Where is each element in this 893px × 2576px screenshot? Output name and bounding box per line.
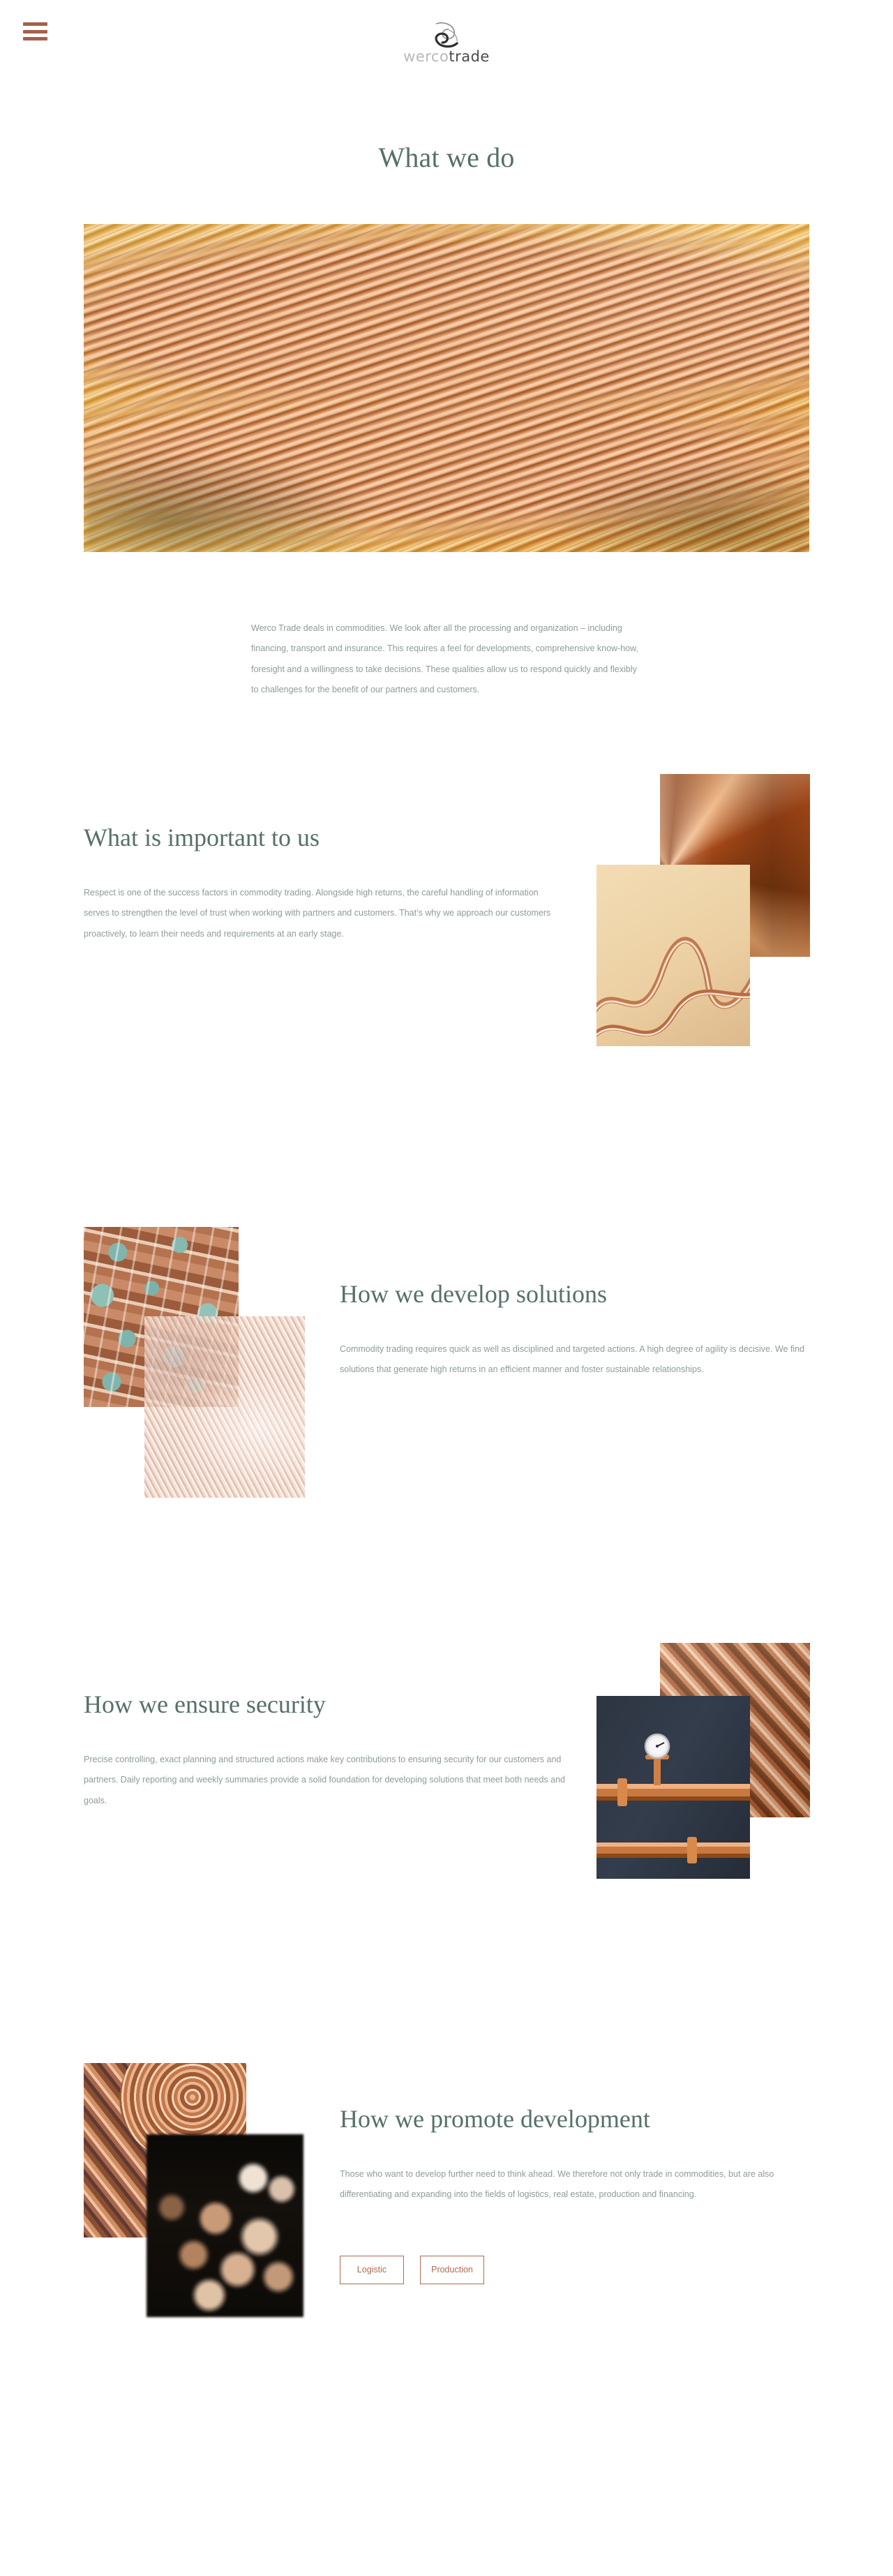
- section-1-title: What is important to us: [84, 824, 579, 852]
- section-3-text: Precise controlling, exact planning and …: [84, 1750, 565, 1811]
- section-how-we-ensure-security: How we ensure security Precise controlli…: [0, 1629, 893, 2048]
- section-3-title: How we ensure security: [84, 1690, 579, 1719]
- section-4-title: How we promote development: [340, 2105, 835, 2134]
- hamburger-bar-3: [23, 37, 47, 40]
- pipes-and-gauge-illustration: [596, 1696, 750, 1879]
- section-what-is-important: What is important to us Respect is one o…: [0, 791, 893, 1210]
- intro-paragraph: Werco Trade deals in commodities. We loo…: [251, 618, 642, 701]
- hero-image: [84, 224, 809, 552]
- section-3-body: How we ensure security Precise controlli…: [84, 1690, 579, 1812]
- production-button[interactable]: Production: [420, 2256, 484, 2284]
- copper-wire-on-cream-photo: [596, 865, 750, 1046]
- section-how-we-develop: How we develop solutions Commodity tradi…: [0, 1210, 893, 1629]
- page-root: wercotrade What we do Werco Trade deals …: [0, 0, 893, 2576]
- section-how-we-promote: How we promote development Those who wan…: [0, 2048, 893, 2466]
- pale-copper-strands-photo: [144, 1316, 305, 1498]
- site-logo[interactable]: wercotrade: [403, 20, 490, 64]
- section-1-text: Respect is one of the success factors in…: [84, 883, 565, 944]
- copper-pipes-pressure-gauge-photo: [596, 1696, 750, 1879]
- section-2-text: Commodity trading requires quick as well…: [340, 1339, 821, 1380]
- logo-text-light: werco: [403, 48, 449, 65]
- section-2-body: How we develop solutions Commodity tradi…: [340, 1280, 835, 1380]
- section-2-title: How we develop solutions: [340, 1280, 835, 1309]
- logo-text-dark: trade: [449, 48, 490, 65]
- page-title: What we do: [0, 141, 893, 174]
- dark-copper-nuggets-photo: [147, 2134, 303, 2317]
- site-header: wercotrade: [0, 0, 893, 98]
- section-1-body: What is important to us Respect is one o…: [84, 824, 579, 945]
- hamburger-bar-1: [23, 22, 47, 26]
- logo-wordmark: wercotrade: [403, 50, 490, 64]
- hamburger-menu-icon[interactable]: [23, 22, 47, 40]
- copper-wire-squiggle: [596, 865, 750, 1046]
- hamburger-bar-2: [23, 30, 47, 33]
- cta-button-row: Logistic Production: [340, 2256, 835, 2284]
- logistic-button[interactable]: Logistic: [340, 2256, 404, 2284]
- section-4-text: Those who want to develop further need t…: [340, 2164, 821, 2205]
- swirl-logo-icon: [430, 20, 463, 50]
- section-4-body: How we promote development Those who wan…: [340, 2105, 835, 2284]
